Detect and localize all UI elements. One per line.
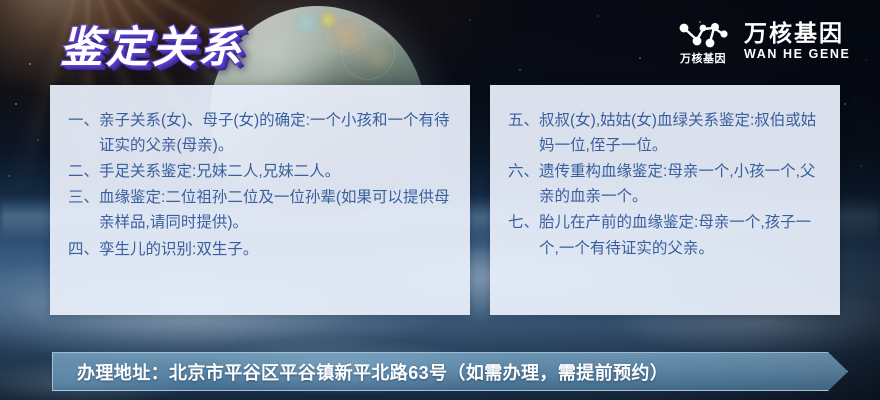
brand-logo: 万核基因 万核基因 WAN HE GENE xyxy=(676,18,851,65)
logo-wordmark: 万核基因 WAN HE GENE xyxy=(744,21,851,62)
services-panel-left: 一、 亲子关系(女)、母子(女)的确定:一个小孩和一个有待证实的父亲(母亲)。 … xyxy=(50,85,470,315)
list-item-text: 亲子关系(女)、母子(女)的确定:一个小孩和一个有待证实的父亲(母亲)。 xyxy=(99,108,454,158)
list-item-number: 三、 xyxy=(68,185,99,210)
list-item-number: 四、 xyxy=(68,237,99,262)
services-list-left: 一、 亲子关系(女)、母子(女)的确定:一个小孩和一个有待证实的父亲(母亲)。 … xyxy=(50,85,470,262)
list-item: 一、 亲子关系(女)、母子(女)的确定:一个小孩和一个有待证实的父亲(母亲)。 xyxy=(68,108,454,158)
services-list-right: 五、 叔叔(女),姑姑(女)血绿关系鉴定:叔伯或姑妈一位,侄子一位。 六、 遗传… xyxy=(490,85,840,261)
list-item: 四、 孪生儿的识别:双生子。 xyxy=(68,237,454,262)
list-item-text: 手足关系鉴定:兄妹二人,兄妹二人。 xyxy=(99,159,454,184)
molecule-icon xyxy=(676,18,730,52)
page-title: 鉴定关系 xyxy=(60,13,244,75)
brand-name-cn: 万核基因 xyxy=(744,21,851,46)
list-item-text: 遗传重构血缘鉴定:母亲一个,小孩一个,父亲的血亲一个。 xyxy=(539,159,826,209)
list-item-number: 七、 xyxy=(508,210,539,235)
list-item: 二、 手足关系鉴定:兄妹二人,兄妹二人。 xyxy=(68,159,454,184)
address-text: 办理地址：北京市平谷区平谷镇新平北路63号（如需办理，需提前预约） xyxy=(53,359,668,385)
list-item-number: 五、 xyxy=(508,108,539,133)
list-item: 七、 胎儿在产前的血缘鉴定:母亲一个,孩子一个,一个有待证实的父亲。 xyxy=(508,210,826,260)
list-item-number: 六、 xyxy=(508,159,539,184)
list-item-text: 胎儿在产前的血缘鉴定:母亲一个,孩子一个,一个有待证实的父亲。 xyxy=(539,210,826,260)
services-panel-right: 五、 叔叔(女),姑姑(女)血绿关系鉴定:叔伯或姑妈一位,侄子一位。 六、 遗传… xyxy=(490,85,840,315)
promo-banner: 鉴定关系 万核基因 xyxy=(0,0,880,400)
list-item-number: 一、 xyxy=(68,108,99,133)
brand-name-en: WAN HE GENE xyxy=(744,48,851,62)
list-item-number: 二、 xyxy=(68,159,99,184)
list-item-text: 血缘鉴定:二位祖孙二位及一位孙辈(如果可以提供母亲样品,请同时提供)。 xyxy=(99,185,454,235)
list-item: 三、 血缘鉴定:二位祖孙二位及一位孙辈(如果可以提供母亲样品,请同时提供)。 xyxy=(68,185,454,235)
logo-mark-label: 万核基因 xyxy=(680,54,726,65)
logo-mark: 万核基因 xyxy=(676,18,730,65)
address-banner: 办理地址：北京市平谷区平谷镇新平北路63号（如需办理，需提前预约） xyxy=(52,352,848,391)
list-item-text: 叔叔(女),姑姑(女)血绿关系鉴定:叔伯或姑妈一位,侄子一位。 xyxy=(539,108,826,158)
list-item: 五、 叔叔(女),姑姑(女)血绿关系鉴定:叔伯或姑妈一位,侄子一位。 xyxy=(508,108,826,158)
list-item: 六、 遗传重构血缘鉴定:母亲一个,小孩一个,父亲的血亲一个。 xyxy=(508,159,826,209)
list-item-text: 孪生儿的识别:双生子。 xyxy=(99,237,454,262)
